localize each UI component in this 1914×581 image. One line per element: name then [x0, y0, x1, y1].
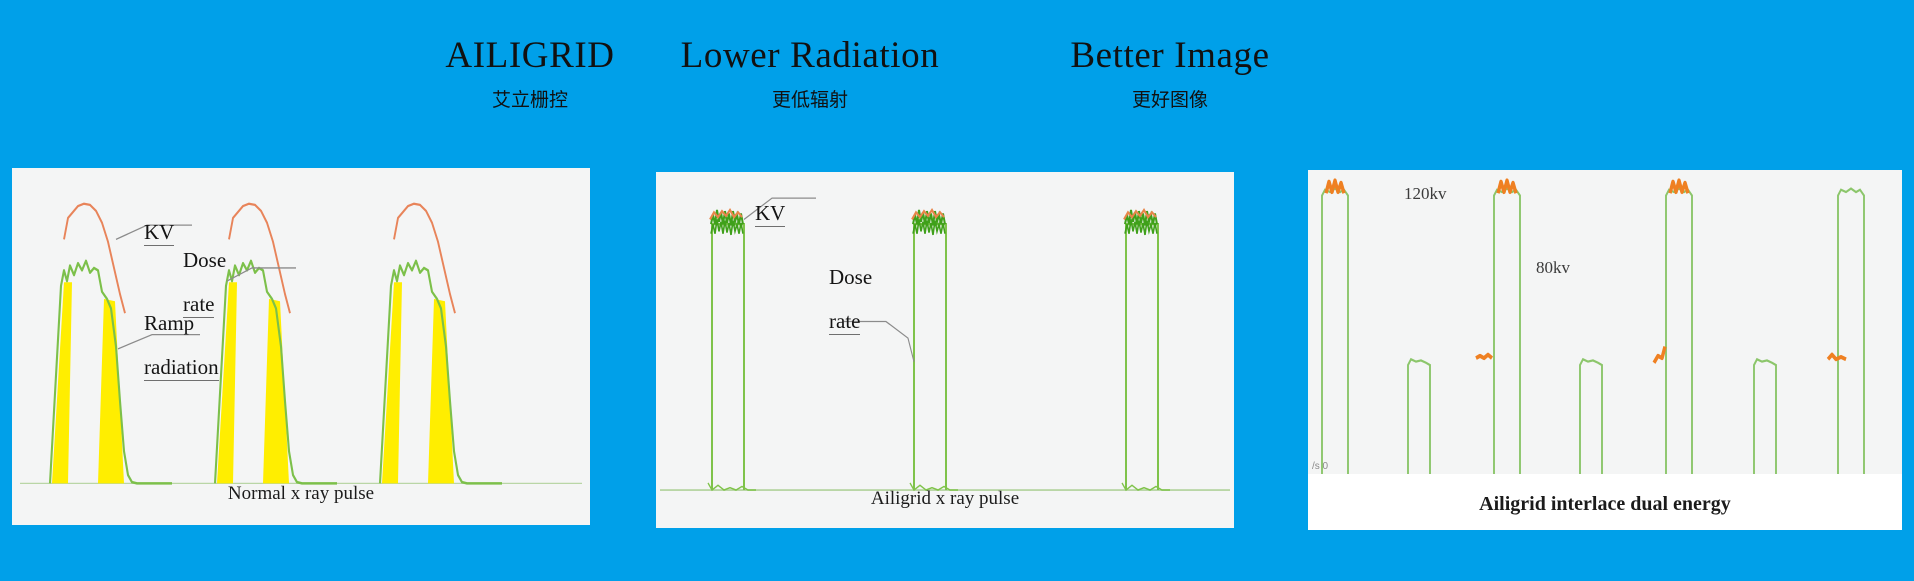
chart-normal-x-ray-pulse: [12, 168, 590, 525]
annotation-dose-line1: Dose: [829, 265, 872, 289]
annotation-ramp-radiation: Ramp radiation: [123, 290, 219, 400]
pulse-120kv: [1666, 189, 1692, 482]
header-banner: AILIGRID 艾立栅控 Lower Radiation 更低辐射 Bette…: [0, 0, 1914, 160]
header-en-0: AILIGRID: [420, 36, 640, 76]
legend-120kv-label: 120kv: [1404, 184, 1447, 203]
header-column-better-image: Better Image 更好图像: [1040, 36, 1300, 112]
pulse-80kv: [1580, 359, 1602, 481]
annotation-kv: KV: [734, 180, 785, 246]
annotation-ramp-line2: radiation: [144, 355, 219, 381]
header-en-2: Better Image: [1040, 36, 1300, 76]
panel-caption-normal: Normal x ray pulse: [12, 483, 590, 505]
legend-80kv-label: 80kv: [1536, 258, 1570, 277]
panel-caption-dual-energy: Ailigrid interlace dual energy: [1308, 493, 1902, 516]
panel-ailigrid-interlace-dual-energy: 120kv 80kv /s 0 Ailigrid interlace dual …: [1308, 170, 1902, 530]
annotation-ramp-line1: Ramp: [144, 311, 194, 335]
pulse-80kv: [1754, 359, 1776, 481]
header-column-lower-radiation: Lower Radiation 更低辐射: [660, 36, 960, 112]
pulse-120kv: [1838, 189, 1864, 482]
legend-120kv: 120kv: [1404, 184, 1447, 204]
axis-origin-label: /s 0: [1312, 461, 1328, 472]
panel-ailigrid-x-ray-pulse: KV Dose rate Ailigrid x ray pulse: [656, 172, 1234, 528]
annotation-dose-line2: rate: [829, 309, 860, 335]
header-zh-1: 更低辐射: [660, 88, 960, 112]
header-zh-2: 更好图像: [1040, 88, 1300, 112]
pulse-80kv: [1408, 359, 1430, 481]
annotation-dose-rate: Dose rate: [808, 244, 872, 354]
kv-marker-80: [1476, 355, 1492, 358]
kv-marker-80: [1654, 347, 1665, 363]
pulse-120kv: [1494, 189, 1520, 482]
kv-marker-80: [1828, 355, 1846, 360]
panel-normal-x-ray-pulse: KV Dose rate Ramp radiation Normal x ray…: [12, 168, 590, 525]
pulse-120kv: [1322, 189, 1348, 482]
annotation-dose-line1: Dose: [183, 248, 226, 272]
header-en-1: Lower Radiation: [660, 36, 960, 76]
legend-80kv: 80kv: [1536, 258, 1570, 278]
header-zh-0: 艾立栅控: [420, 88, 640, 112]
annotation-kv-label: KV: [755, 201, 785, 227]
panel-caption-ailigrid: Ailigrid x ray pulse: [656, 488, 1234, 510]
header-column-ailigrid: AILIGRID 艾立栅控: [420, 36, 640, 112]
